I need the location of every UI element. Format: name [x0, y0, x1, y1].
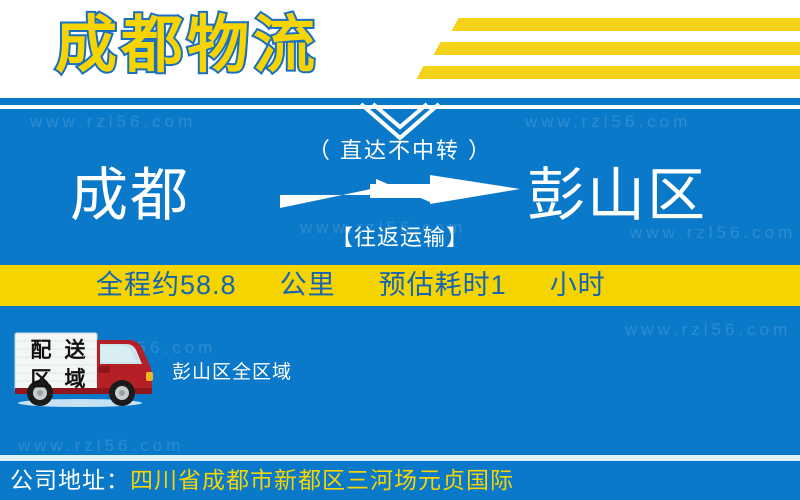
truck-box-char-2: 送: [58, 336, 92, 365]
decorative-stripe-2: [434, 42, 800, 55]
route-note: （ 直达不中转 ）: [265, 136, 535, 166]
logistics-banner: 成都物流 www.rzl56.com www.rzl56.com www.rzl…: [0, 0, 800, 500]
footer-bar: 公司地址：四川省成都市新都区三河场元贞国际: [0, 461, 800, 500]
truck-box-label: 配 送 区 域: [24, 336, 92, 394]
route-destination: 彭山区: [527, 160, 707, 232]
distance-band: 全程约58.8 公里 预估耗时1 小时: [0, 265, 800, 306]
company-address: 公司地址：四川省成都市新都区三河场元贞国际: [10, 461, 514, 500]
truck-box-char-4: 域: [58, 365, 92, 394]
route-origin: 成都: [70, 160, 190, 232]
header-bar: 成都物流: [0, 0, 800, 98]
company-address-label: 公司地址：: [10, 467, 130, 493]
watermark: www.rzl56.com: [525, 112, 691, 132]
double-headed-arrow-icon: [280, 174, 520, 214]
truck-box-char-3: 区: [24, 365, 58, 394]
distance-value: 全程约58.8: [96, 265, 237, 306]
distance-unit: 公里: [280, 265, 336, 306]
route-tag: 【往返运输】: [265, 223, 535, 253]
page-title: 成都物流: [55, 0, 319, 94]
decorative-stripe-3: [417, 66, 800, 79]
watermark: www.rzl56.com: [18, 436, 184, 455]
main-blue-panel: www.rzl56.com www.rzl56.com www.rzl56.co…: [0, 98, 800, 455]
company-address-value: 四川省成都市新都区三河场元贞国际: [130, 467, 514, 493]
watermark: www.rzl56.com: [30, 112, 196, 132]
decorative-stripe-1: [452, 18, 800, 31]
distance-band-text: 全程约58.8 公里 预估耗时1 小时: [0, 265, 606, 306]
delivery-area-text: 彭山区全区域: [172, 360, 292, 386]
duration-value: 预估耗时1: [379, 265, 507, 306]
route-middle-block: （ 直达不中转 ） 【往返运输】: [265, 136, 535, 253]
watermark: www.rzl56.com: [625, 320, 791, 340]
duration-unit: 小时: [550, 265, 606, 306]
truck-box-char-1: 配: [24, 336, 58, 365]
